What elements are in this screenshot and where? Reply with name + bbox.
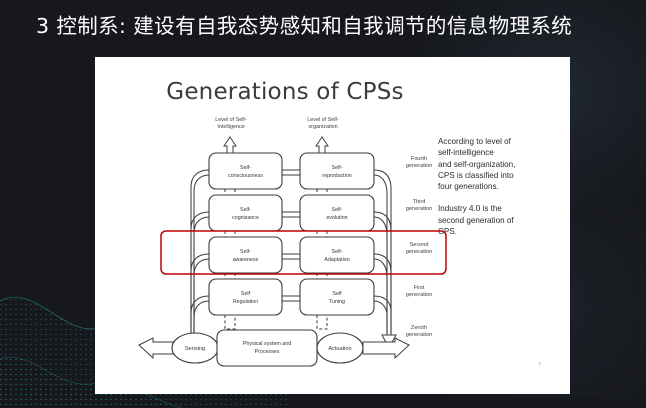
- box-self-regulation: Self Regulation: [209, 279, 282, 315]
- box-label-line-1: Self-: [240, 165, 251, 171]
- box-label-line-2: awareness: [233, 257, 259, 263]
- box-label-line-1: Self-: [332, 249, 343, 255]
- sensing-connection-lines: [191, 170, 209, 353]
- box-label-line-2: Adaptation: [324, 257, 349, 263]
- box-self-cognizance: Self- cognizance: [209, 195, 282, 231]
- actuation-connection-lines: [374, 170, 396, 348]
- physical-label-line-1: Physical system and: [243, 341, 291, 347]
- box-label-line-2: evolution: [326, 215, 347, 221]
- box-self-consciousness: Self- consciousness: [209, 153, 282, 189]
- node-sensing: Sensing: [172, 333, 218, 363]
- slide-title: 3 控制系: 建设有自我态势感知和自我调节的信息物理系统: [36, 9, 572, 39]
- axis-arrow-self-organization: [316, 137, 328, 153]
- box-physical-system: Physical system and Processes: [217, 330, 317, 366]
- cps-generations-diagram: .bx { fill:#ffffff; stroke:#3d3d3d; stro…: [95, 57, 570, 394]
- box-label-line-1: Self: [332, 291, 342, 297]
- box-label-line-2: reproduction: [322, 173, 351, 179]
- box-label-line-1: Self-: [240, 207, 251, 213]
- box-label-line-2: Regulation: [233, 299, 258, 305]
- node-label-sensing: Sensing: [185, 346, 205, 352]
- box-self-tuning: Self Tuning: [300, 279, 374, 315]
- physical-label-line-2: Processes: [255, 349, 280, 355]
- box-label-line-2: cognizance: [232, 215, 259, 221]
- box-label-line-1: Self-: [332, 165, 343, 171]
- input-arrow: [139, 338, 173, 358]
- box-self-awareness: Self- awareness: [209, 237, 282, 273]
- node-label-actuation: Actuation: [328, 346, 351, 352]
- box-label-line-2: Tuning: [329, 299, 345, 305]
- box-self-adaptation: Self- Adaptation: [300, 237, 374, 273]
- dashed-feedback-loops: [225, 315, 327, 329]
- box-label-line-1: Self-: [240, 249, 251, 255]
- axis-arrow-self-intelligence: [224, 137, 236, 153]
- box-label-line-2: consciousness: [228, 173, 263, 179]
- screen-root: 3 控制系: 建设有自我态势感知和自我调节的信息物理系统 Generations…: [0, 0, 646, 408]
- box-self-evolution: Self- evolution: [300, 195, 374, 231]
- node-actuation: Actuation: [317, 333, 363, 363]
- box-self-reproduction: Self- reproduction: [300, 153, 374, 189]
- row-links: [282, 170, 300, 301]
- box-label-line-1: Self-: [332, 207, 343, 213]
- box-label-line-1: Self: [241, 291, 251, 297]
- slide-panel: Generations of CPSs Level of Self- Intel…: [95, 57, 570, 394]
